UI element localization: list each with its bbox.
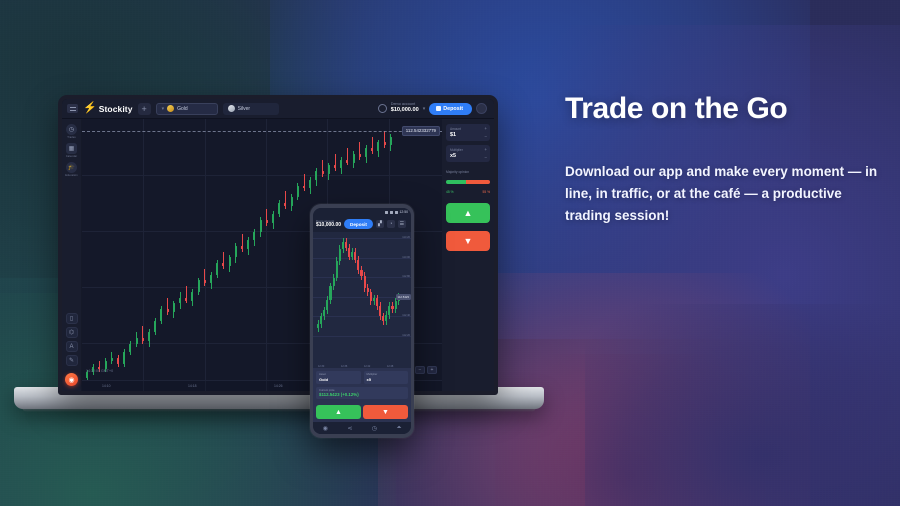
amount-increment-icon[interactable]: + <box>484 126 487 131</box>
phone-price-chart[interactable]: 113.20113.00112.80112.60112.40112.20 112… <box>313 232 411 368</box>
current-price-tag: 112.542332779 <box>402 126 440 136</box>
home-icon[interactable]: ◉ <box>323 425 328 432</box>
account-icon[interactable]: ☰ <box>398 220 406 228</box>
wifi-icon <box>385 211 388 214</box>
account-switch-icon[interactable] <box>378 104 387 113</box>
gridline-horizontal <box>313 277 411 278</box>
x-axis-tick: 12:30 <box>318 365 324 368</box>
rail-item-trades-label: Trades <box>67 136 76 139</box>
phone-balance-value: $10,000.00 <box>316 223 341 228</box>
arrow-up-icon: ▲ <box>335 409 342 416</box>
sentiment-bar-up <box>446 180 466 184</box>
drawing-tools-icon[interactable]: A <box>66 341 78 352</box>
y-axis-tick: 112.20 <box>402 334 410 337</box>
indicators-icon[interactable]: ⌬ <box>66 327 78 338</box>
gridline-horizontal <box>313 336 411 337</box>
chart-timestamp: 14:32:05 GMT+0 <box>86 369 113 373</box>
asset-tab-gold[interactable]: ▾ Gold <box>156 103 218 115</box>
phone-info-panel: Asset Gold Multiplier x5 Current price $… <box>313 368 411 402</box>
phone-current-price-tag: 112.5423 <box>396 294 411 300</box>
lightning-bolt-icon: ⚡ <box>83 103 97 114</box>
hamburger-icon[interactable] <box>67 104 78 113</box>
chart-type-icon[interactable]: ▞ <box>376 220 384 228</box>
phone-multiplier-field[interactable]: Multiplier x5 <box>364 371 409 384</box>
sentiment-down-pct: 55 % <box>482 190 490 194</box>
arrow-down-icon: ▼ <box>382 409 389 416</box>
phone-account-balance[interactable]: Demo account $10,000.00 <box>316 220 341 229</box>
asset-tab-silver[interactable]: Silver <box>223 103 279 115</box>
current-price-line <box>82 131 442 132</box>
share-icon[interactable]: ⋖ <box>347 425 352 432</box>
gridline-horizontal <box>313 238 411 239</box>
multiplier-label: Multiplier <box>450 148 486 152</box>
clock-history-icon: ◷ <box>66 124 77 135</box>
phone-asset-value: Gold <box>319 377 358 382</box>
wallet-icon <box>436 106 441 111</box>
asset-tab-silver-label: Silver <box>238 106 251 112</box>
arrow-down-icon: ▼ <box>464 236 473 246</box>
app-topbar: ⚡ Stockity + ▾ Gold Silver Demo account … <box>62 99 494 119</box>
candlestick-chart-icon[interactable]: ▯ <box>66 313 78 324</box>
phone-current-price: Current price $112.5423 (+0.12%) <box>316 387 408 400</box>
sell-down-button[interactable]: ▼ <box>446 231 490 251</box>
gridline-horizontal <box>313 316 411 317</box>
laptop-screen: ⚡ Stockity + ▾ Gold Silver Demo account … <box>58 95 498 395</box>
multiplier-value: x5 <box>450 153 486 159</box>
silver-asset-icon <box>228 105 235 112</box>
app-body: ◷ Trades ▦ Calendar 🎓 Education ▯ ⌬ A ✎ … <box>62 119 494 391</box>
add-tab-button[interactable]: + <box>138 103 151 115</box>
left-rail: ◷ Trades ▦ Calendar 🎓 Education ▯ ⌬ A ✎ … <box>62 119 82 391</box>
x-axis-tick: 12:42 <box>364 365 370 368</box>
account-balance[interactable]: Demo account $10,000.00 <box>391 103 419 113</box>
calendar-icon: ▦ <box>66 143 77 154</box>
y-axis-tick: 113.20 <box>402 236 410 239</box>
asset-tab-gold-label: Gold <box>177 106 188 112</box>
status-time: 12:50 <box>400 210 409 214</box>
phone-price-value: $112.5423 (+0.12%) <box>319 392 405 397</box>
rail-item-calendar[interactable]: ▦ Calendar <box>66 143 77 158</box>
phone-sell-down-button[interactable]: ▼ <box>363 405 408 419</box>
deposit-label: Deposit <box>443 106 463 112</box>
gridline-horizontal <box>313 258 411 259</box>
topbar-right-group: Demo account $10,000.00 ▾ Deposit <box>378 103 489 115</box>
gold-asset-icon <box>167 105 174 112</box>
phone-mockup: 12:50 Demo account $10,000.00 Deposit ▞ … <box>310 204 414 438</box>
rail-item-education[interactable]: 🎓 Education <box>65 162 77 177</box>
rail-item-education-label: Education <box>65 174 77 177</box>
multiplier-increment-icon[interactable]: + <box>484 147 487 152</box>
phone-chart-x-axis: 12:3012:3612:4212:48 <box>313 362 411 368</box>
phone-screen: 12:50 Demo account $10,000.00 Deposit ▞ … <box>313 208 411 434</box>
pencil-icon[interactable]: ✎ <box>66 355 78 366</box>
timeframe-icon[interactable]: ◔ <box>387 220 395 228</box>
sentiment-up-pct: 45 % <box>446 190 454 194</box>
battery-icon <box>395 211 398 214</box>
page-title: Trade on the Go <box>565 92 885 125</box>
profile-icon[interactable]: ⏶ <box>396 425 401 432</box>
amount-field[interactable]: Amount $1 + − <box>446 124 490 141</box>
x-axis-tick: 14:18 <box>188 384 197 388</box>
rail-item-trades[interactable]: ◷ Trades <box>66 124 77 139</box>
x-axis-tick: 14:26 <box>274 384 283 388</box>
phone-multiplier-value: x5 <box>367 377 406 382</box>
signal-icon <box>390 211 393 214</box>
phone-bottom-nav: ◉ ⋖ ◷ ⏶ <box>313 422 411 434</box>
y-axis-tick: 113.00 <box>402 256 410 259</box>
support-chat-icon[interactable]: ◉ <box>65 373 78 386</box>
deposit-button[interactable]: Deposit <box>429 103 472 115</box>
x-axis-tick: 12:36 <box>341 365 347 368</box>
sentiment-bar-down <box>466 180 490 184</box>
y-axis-tick: 112.40 <box>402 314 410 317</box>
phone-buy-up-button[interactable]: ▲ <box>316 405 361 419</box>
phone-info-row: Asset Gold Multiplier x5 <box>316 371 408 384</box>
multiplier-field[interactable]: Multiplier x5 + − <box>446 145 490 162</box>
rail-item-calendar-label: Calendar <box>66 155 77 158</box>
amount-value: $1 <box>450 132 486 138</box>
sentiment-label: Majority opinion <box>446 170 490 174</box>
marketing-body-text: Download our app and make every moment —… <box>565 161 885 227</box>
zoom-out-button[interactable]: − <box>415 366 425 374</box>
balance-chevron-down-icon[interactable]: ▾ <box>423 106 426 112</box>
multiplier-decrement-icon[interactable]: − <box>484 155 487 160</box>
user-avatar-icon[interactable] <box>476 103 487 114</box>
phone-deposit-button[interactable]: Deposit <box>344 219 373 229</box>
x-axis-tick: 14:10 <box>102 384 111 388</box>
chart-zoom-controls: − + <box>415 366 437 374</box>
history-icon[interactable]: ◷ <box>372 425 377 432</box>
sentiment-bar <box>446 180 490 184</box>
buy-up-button[interactable]: ▲ <box>446 203 490 223</box>
arrow-up-icon: ▲ <box>464 208 473 218</box>
phone-status-bar: 12:50 <box>313 208 411 216</box>
y-axis-tick: 112.80 <box>402 275 410 278</box>
balance-value: $10,000.00 <box>391 108 419 114</box>
chevron-down-icon: ▾ <box>162 106 165 112</box>
rail-tools: ▯ ⌬ A ✎ ◉ <box>65 313 78 391</box>
x-axis-tick: 12:48 <box>387 365 393 368</box>
zoom-in-button[interactable]: + <box>427 366 437 374</box>
laptop-mockup: ⚡ Stockity + ▾ Gold Silver Demo account … <box>58 95 498 395</box>
marketing-copy: Trade on the Go Download our app and mak… <box>565 92 885 227</box>
phone-topbar: Demo account $10,000.00 Deposit ▞ ◔ ☰ <box>313 216 411 232</box>
amount-decrement-icon[interactable]: − <box>484 134 487 139</box>
graduation-cap-icon: 🎓 <box>66 162 77 173</box>
phone-trade-actions: ▲ ▼ <box>313 402 411 422</box>
phone-asset-field[interactable]: Asset Gold <box>316 371 361 384</box>
trade-panel: Amount $1 + − Multiplier x5 + − Majority… <box>442 119 494 391</box>
brand-name: Stockity <box>99 104 133 114</box>
amount-label: Amount <box>450 127 486 131</box>
brand-logo: ⚡ Stockity <box>83 103 133 114</box>
sentiment-percentages: 45 % 55 % <box>446 190 490 194</box>
